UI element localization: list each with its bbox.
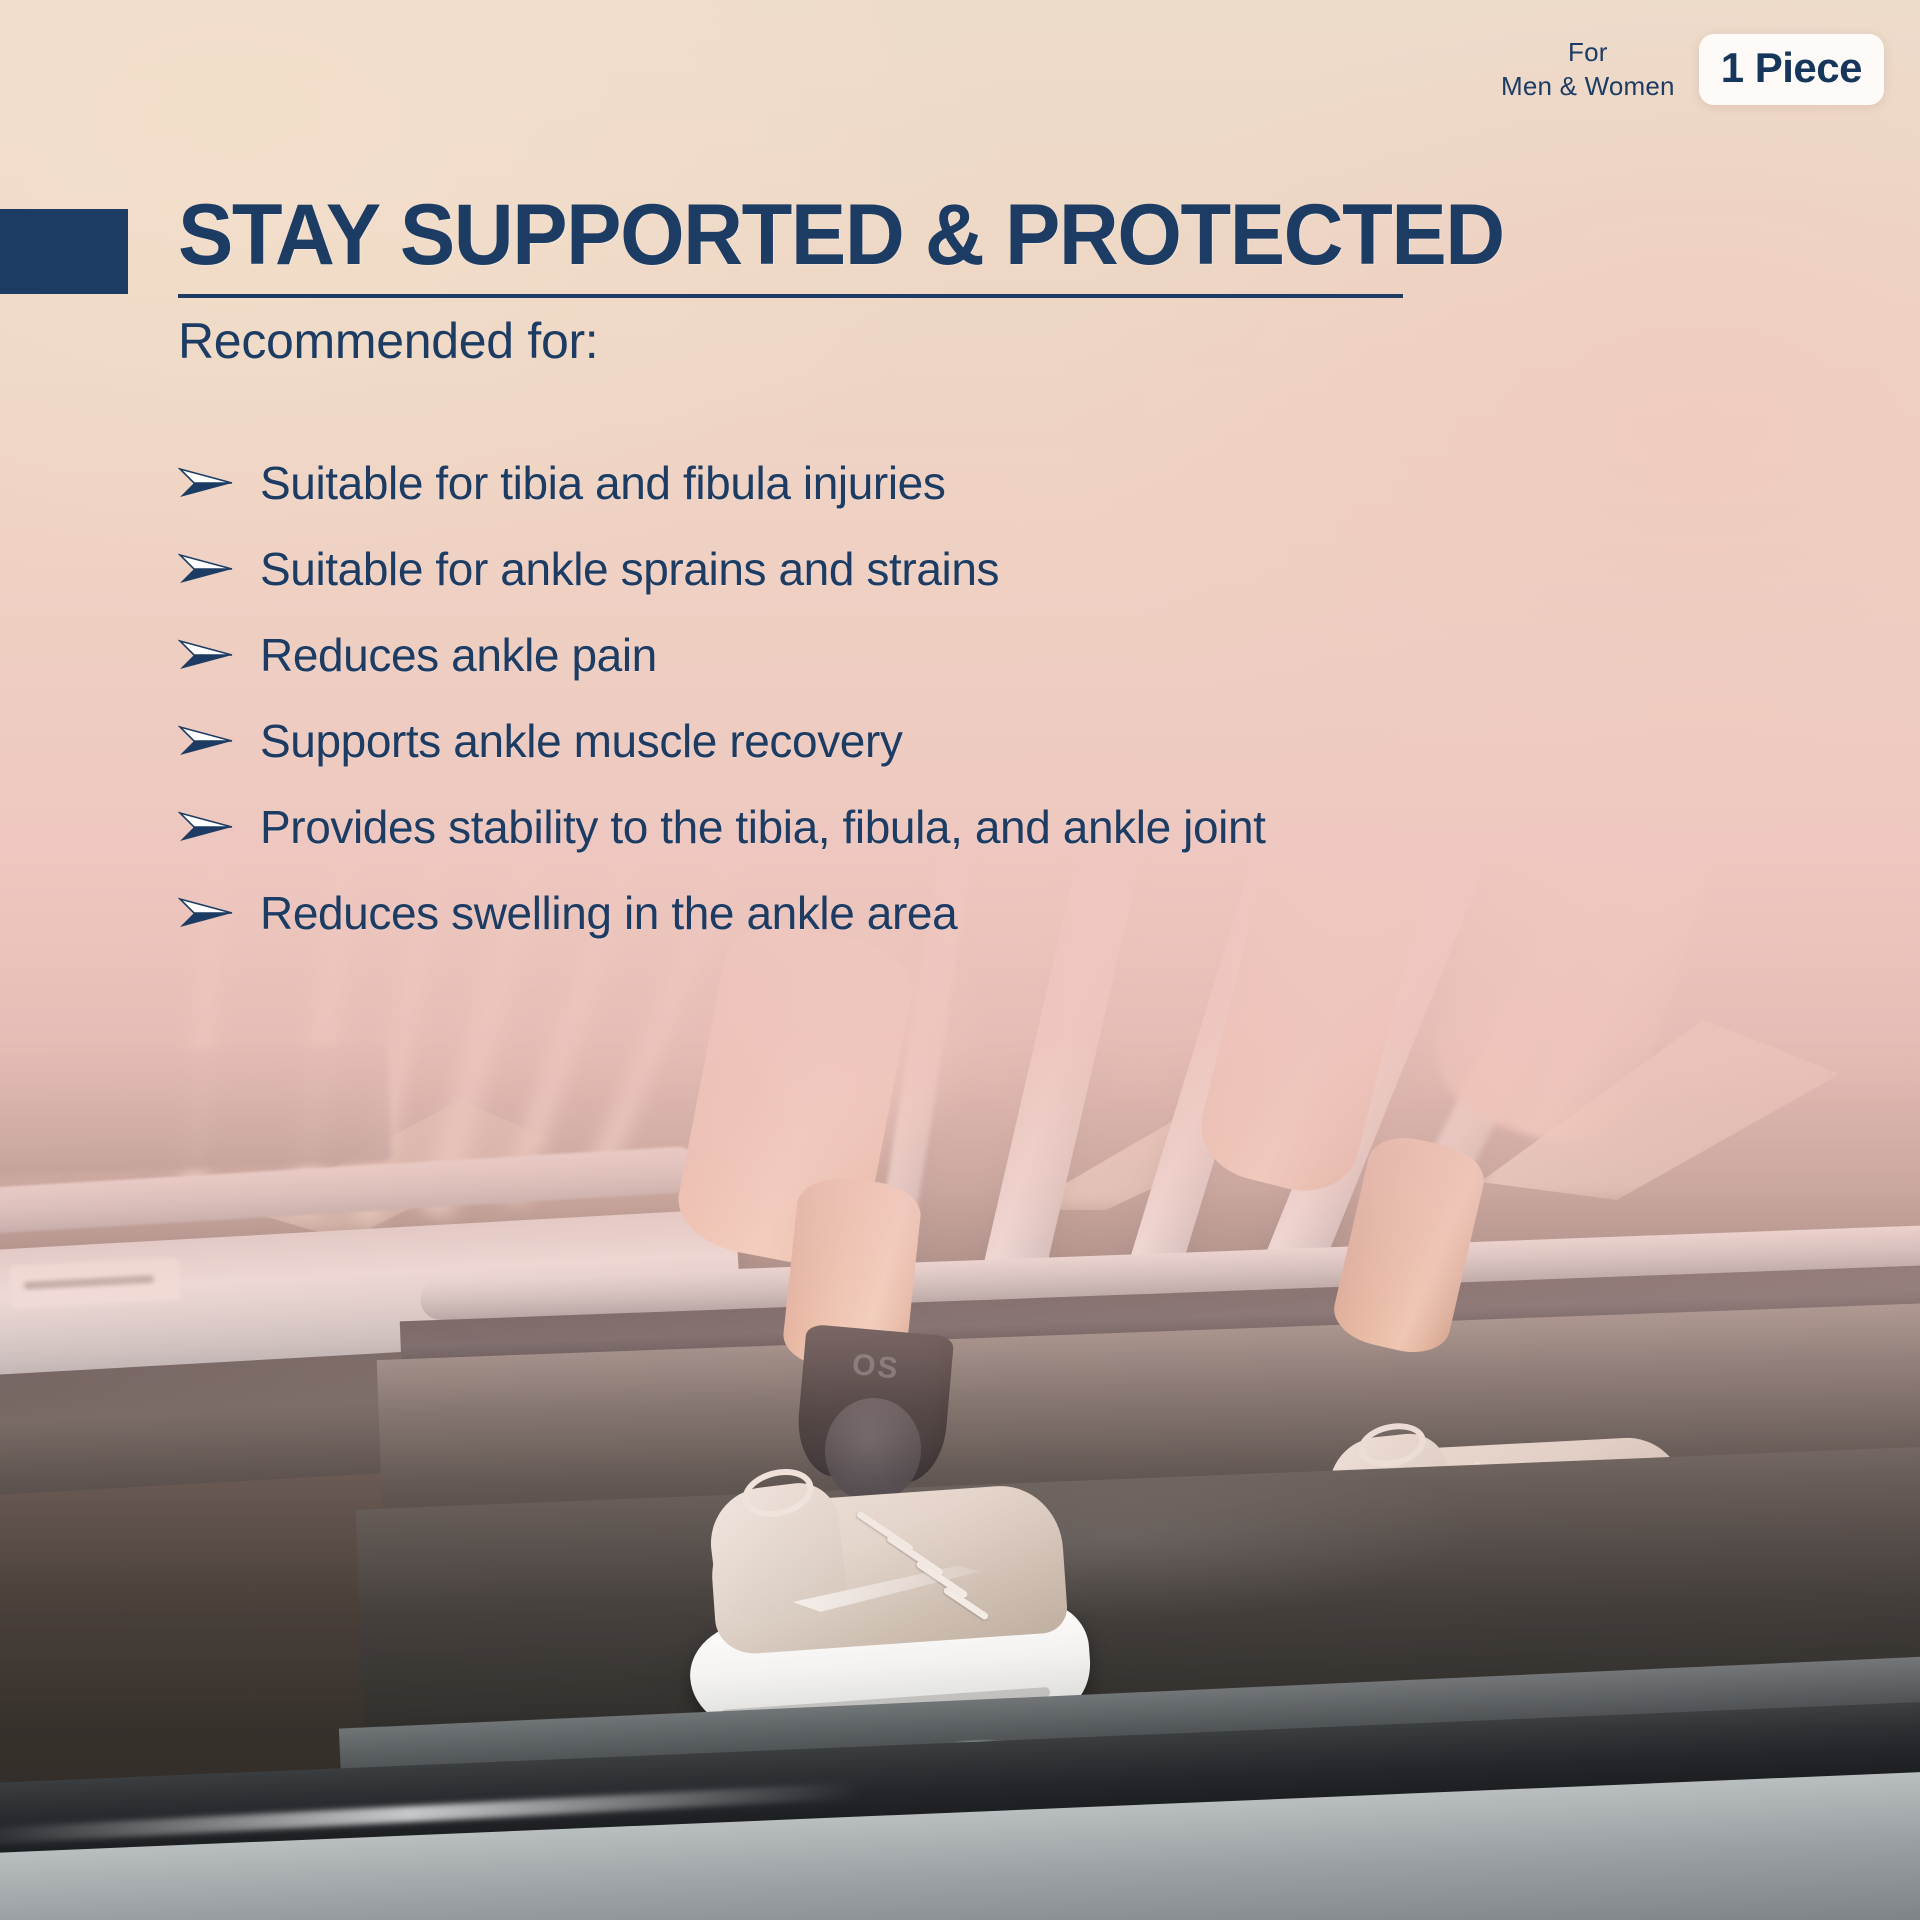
for-label-line2: Men & Women — [1501, 70, 1675, 103]
for-label-line1: For — [1501, 36, 1675, 69]
header-badge-group: For Men & Women 1 Piece — [1501, 34, 1884, 105]
list-item-label: Suitable for ankle sprains and strains — [260, 545, 999, 593]
arrow-right-icon — [178, 807, 234, 847]
list-item: Reduces ankle pain — [178, 612, 1738, 698]
list-item-label: Suitable for tibia and fibula injuries — [260, 459, 945, 507]
arrow-right-icon — [178, 463, 234, 503]
list-item: Suitable for ankle sprains and strains — [178, 526, 1738, 612]
subtitle: Recommended for: — [178, 314, 1608, 369]
arrow-right-icon — [178, 635, 234, 675]
page-title: STAY SUPPORTED & PROTECTED — [178, 192, 1558, 278]
list-item-label: Supports ankle muscle recovery — [260, 717, 903, 765]
headline-divider — [178, 294, 1403, 298]
benefits-list: Suitable for tibia and fibula injuries S… — [178, 440, 1738, 956]
navy-accent-block — [0, 209, 128, 294]
list-item-label: Reduces swelling in the ankle area — [260, 889, 957, 937]
list-item-label: Provides stability to the tibia, fibula,… — [260, 803, 1266, 851]
arrow-right-icon — [178, 721, 234, 761]
list-item: Provides stability to the tibia, fibula,… — [178, 784, 1738, 870]
product-benefit-poster: OS For Men & Women 1 Piece STAY SUPPORTE… — [0, 0, 1920, 1920]
arrow-right-icon — [178, 549, 234, 589]
list-item: Supports ankle muscle recovery — [178, 698, 1738, 784]
arrow-right-icon — [178, 893, 234, 933]
list-item: Suitable for tibia and fibula injuries — [178, 440, 1738, 526]
list-item: Reduces swelling in the ankle area — [178, 870, 1738, 956]
headline-group: STAY SUPPORTED & PROTECTED Recommended f… — [178, 192, 1608, 369]
content-layer: For Men & Women 1 Piece STAY SUPPORTED &… — [0, 0, 1920, 1920]
for-audience-label: For Men & Women — [1501, 36, 1675, 103]
list-item-label: Reduces ankle pain — [260, 631, 657, 679]
quantity-badge: 1 Piece — [1699, 34, 1884, 105]
